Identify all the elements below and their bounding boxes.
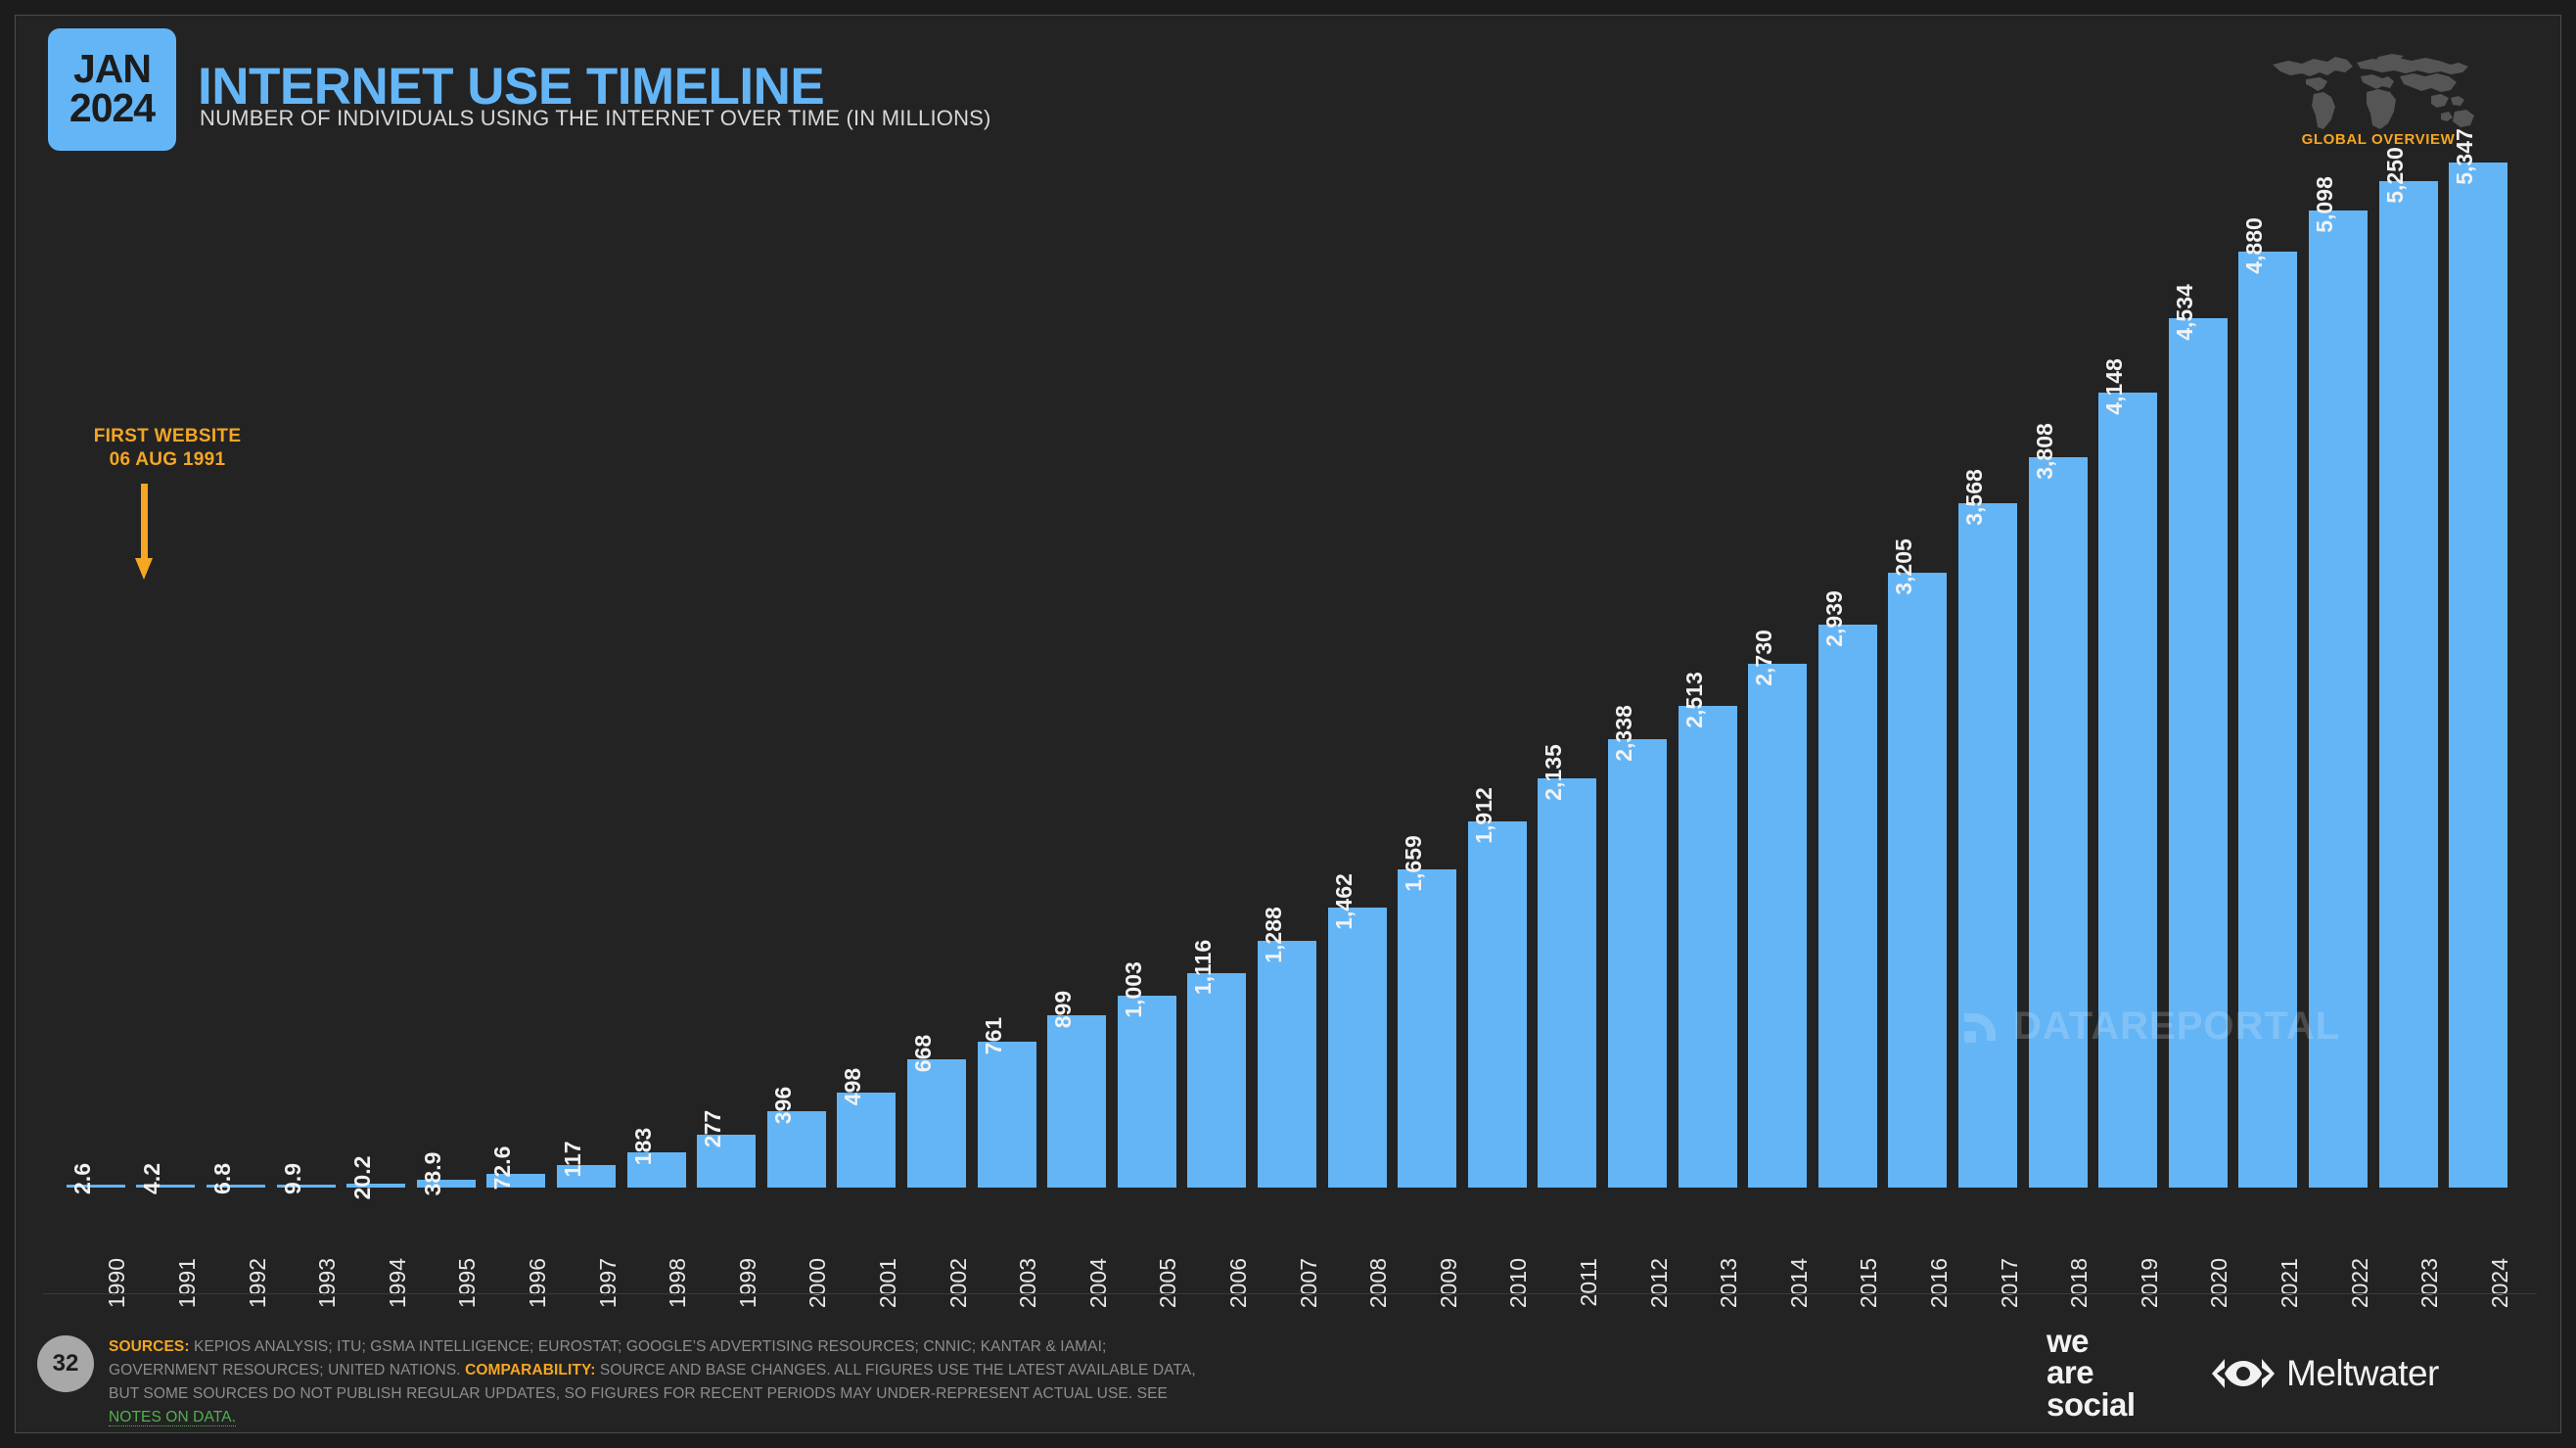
bar-slot: 38.9 xyxy=(411,163,482,1188)
x-tick-2005: 2005 xyxy=(1155,1258,1181,1308)
bar-value-label: 72.6 xyxy=(489,1145,516,1190)
notes-on-data-link[interactable]: NOTES ON DATA. xyxy=(109,1409,236,1426)
x-tick-1997: 1997 xyxy=(595,1258,621,1308)
bar-slot: 4.2 xyxy=(131,163,202,1188)
bar-2002[interactable] xyxy=(907,1059,966,1188)
x-tick-2023: 2023 xyxy=(2416,1258,2443,1308)
x-tick-2018: 2018 xyxy=(2066,1258,2093,1308)
x-tick-2022: 2022 xyxy=(2347,1258,2373,1308)
bar-value-label: 2.6 xyxy=(69,1163,96,1194)
footer-divider xyxy=(43,1293,2537,1294)
bar-value-label: 4,148 xyxy=(2101,358,2128,415)
bar-2013[interactable] xyxy=(1679,706,1737,1188)
bar-value-label: 5,347 xyxy=(2452,128,2478,185)
bar-2007[interactable] xyxy=(1258,941,1316,1188)
bar-2020[interactable] xyxy=(2169,318,2228,1188)
x-tick-2015: 2015 xyxy=(1856,1258,1882,1308)
bar-value-label: 5,098 xyxy=(2312,176,2338,233)
bar-value-label: 761 xyxy=(981,1017,1007,1054)
bar-value-label: 498 xyxy=(840,1067,866,1104)
bar-slot: 72.6 xyxy=(482,163,552,1188)
x-tick-1993: 1993 xyxy=(314,1258,341,1308)
bar-value-label: 2,939 xyxy=(1821,590,1848,647)
bar-value-label: 38.9 xyxy=(420,1152,446,1196)
bar-2015[interactable] xyxy=(1818,625,1877,1188)
bar-value-label: 2,513 xyxy=(1681,672,1708,728)
we-are-social-line-2: are xyxy=(2047,1357,2136,1388)
x-tick-1994: 1994 xyxy=(385,1258,411,1308)
x-tick-2016: 2016 xyxy=(1926,1258,1953,1308)
bar-value-label: 2,338 xyxy=(1611,705,1637,762)
bar-2024[interactable] xyxy=(2449,163,2507,1188)
bar-slot: 5,098 xyxy=(2303,163,2373,1188)
x-tick-2009: 2009 xyxy=(1436,1258,1462,1308)
x-tick-2002: 2002 xyxy=(945,1258,972,1308)
bar-2006[interactable] xyxy=(1187,973,1246,1188)
bar-2021[interactable] xyxy=(2238,252,2297,1188)
sources-label: SOURCES: xyxy=(109,1338,190,1355)
bar-2012[interactable] xyxy=(1608,739,1667,1188)
bar-value-label: 6.8 xyxy=(209,1163,236,1194)
bar-2009[interactable] xyxy=(1398,869,1456,1188)
bar-slot: 1,003 xyxy=(1112,163,1182,1188)
world-map-icon xyxy=(2263,43,2498,134)
x-tick-2007: 2007 xyxy=(1296,1258,1322,1308)
bar-2011[interactable] xyxy=(1538,778,1596,1188)
bar-slot: 396 xyxy=(761,163,832,1188)
we-are-social-line-1: we xyxy=(2047,1326,2136,1357)
x-tick-2024: 2024 xyxy=(2487,1258,2513,1308)
page-number-badge: 32 xyxy=(37,1335,94,1392)
bar-value-label: 396 xyxy=(770,1087,797,1124)
x-tick-2006: 2006 xyxy=(1225,1258,1252,1308)
bar-value-label: 5,250 xyxy=(2382,147,2409,204)
bar-slot: 1,462 xyxy=(1322,163,1393,1188)
x-tick-1992: 1992 xyxy=(245,1258,271,1308)
bar-value-label: 2,730 xyxy=(1751,631,1777,687)
bar-value-label: 3,205 xyxy=(1891,539,1917,596)
x-tick-2003: 2003 xyxy=(1015,1258,1041,1308)
bar-slot: 1,288 xyxy=(1252,163,1322,1188)
slide: JAN 2024 INTERNET USE TIMELINE NUMBER OF… xyxy=(15,15,2561,1433)
x-tick-2013: 2013 xyxy=(1716,1258,1742,1308)
bar-2014[interactable] xyxy=(1748,664,1807,1188)
bar-value-label: 4.2 xyxy=(139,1163,165,1194)
annotation-line-1: FIRST WEBSITE xyxy=(69,425,265,448)
we-are-social-logo: we are social xyxy=(2047,1326,2136,1421)
bar-slot: 2,513 xyxy=(1673,163,1743,1188)
meltwater-eye-icon xyxy=(2211,1357,2276,1390)
bar-value-label: 668 xyxy=(910,1035,937,1072)
meltwater-wordmark: Meltwater xyxy=(2286,1355,2439,1391)
bar-slot: 4,880 xyxy=(2233,163,2304,1188)
x-tick-2008: 2008 xyxy=(1365,1258,1392,1308)
bar-slot: 2,135 xyxy=(1533,163,1603,1188)
bar-value-label: 899 xyxy=(1050,991,1077,1028)
date-badge: JAN 2024 xyxy=(48,28,176,151)
x-tick-2004: 2004 xyxy=(1085,1258,1112,1308)
annotation-line-2: 06 AUG 1991 xyxy=(69,448,265,472)
page-subtitle: NUMBER OF INDIVIDUALS USING THE INTERNET… xyxy=(200,106,991,131)
bar-slot: 277 xyxy=(691,163,761,1188)
sources-note: SOURCES: KEPIOS ANALYSIS; ITU; GSMA INTE… xyxy=(109,1335,1215,1429)
bar-value-label: 4,534 xyxy=(2172,284,2198,341)
bar-value-label: 2,135 xyxy=(1541,744,1567,801)
bar-slot: 20.2 xyxy=(341,163,411,1188)
x-tick-2011: 2011 xyxy=(1576,1258,1602,1306)
bar-slot: 183 xyxy=(621,163,692,1188)
x-tick-2021: 2021 xyxy=(2277,1258,2303,1308)
bar-value-label: 183 xyxy=(630,1128,657,1165)
bar-slot: 3,205 xyxy=(1883,163,1954,1188)
bar-chart: 2.64.26.89.920.238.972.61171832773964986… xyxy=(61,163,2513,1259)
bar-2008[interactable] xyxy=(1328,908,1387,1188)
bar-slot: 2,939 xyxy=(1813,163,1883,1188)
bar-value-label: 1,659 xyxy=(1401,835,1427,892)
bar-value-label: 277 xyxy=(700,1110,726,1147)
bar-value-label: 117 xyxy=(560,1142,586,1178)
bar-slot: 761 xyxy=(972,163,1042,1188)
bar-2001[interactable] xyxy=(837,1093,896,1189)
comparability-label: COMPARABILITY: xyxy=(465,1362,595,1378)
chart-x-axis: 1990199119921993199419951996199719981999… xyxy=(61,1193,2513,1262)
x-tick-2012: 2012 xyxy=(1646,1258,1673,1308)
bar-2010[interactable] xyxy=(1468,821,1527,1188)
bar-2005[interactable] xyxy=(1118,996,1176,1188)
bar-2023[interactable] xyxy=(2379,181,2438,1188)
bar-value-label: 4,880 xyxy=(2241,218,2268,275)
bar-slot: 899 xyxy=(1041,163,1112,1188)
bar-value-label: 1,003 xyxy=(1121,961,1147,1018)
down-arrow-icon xyxy=(135,484,153,582)
bar-2003[interactable] xyxy=(978,1042,1036,1188)
bar-slot: 5,347 xyxy=(2443,163,2513,1188)
x-tick-1995: 1995 xyxy=(454,1258,481,1308)
bar-slot: 2.6 xyxy=(61,163,131,1188)
x-tick-2014: 2014 xyxy=(1786,1258,1813,1308)
x-tick-1998: 1998 xyxy=(665,1258,691,1308)
bar-slot: 4,534 xyxy=(2163,163,2233,1188)
date-badge-year: 2024 xyxy=(69,87,155,129)
bar-slot: 3,808 xyxy=(2023,163,2093,1188)
bar-2017[interactable] xyxy=(1958,503,2017,1188)
bar-2004[interactable] xyxy=(1047,1015,1106,1188)
bar-value-label: 1,116 xyxy=(1190,940,1217,995)
x-tick-1991: 1991 xyxy=(174,1258,201,1308)
x-tick-2020: 2020 xyxy=(2206,1258,2232,1308)
bar-2022[interactable] xyxy=(2309,210,2368,1188)
x-tick-2019: 2019 xyxy=(2137,1258,2163,1308)
bar-slot: 117 xyxy=(551,163,621,1188)
bar-value-label: 9.9 xyxy=(280,1163,306,1194)
bar-2018[interactable] xyxy=(2029,457,2088,1188)
bar-slot: 4,148 xyxy=(2093,163,2163,1188)
chart-plot-area: 2.64.26.89.920.238.972.61171832773964986… xyxy=(61,163,2513,1188)
x-tick-2017: 2017 xyxy=(1997,1258,2023,1308)
x-tick-1999: 1999 xyxy=(735,1258,761,1308)
bar-slot: 9.9 xyxy=(271,163,342,1188)
bar-slot: 2,338 xyxy=(1602,163,1673,1188)
x-tick-2000: 2000 xyxy=(805,1258,831,1308)
bar-value-label: 1,288 xyxy=(1261,907,1287,963)
x-tick-2001: 2001 xyxy=(875,1258,901,1308)
we-are-social-line-3: social xyxy=(2047,1389,2136,1421)
bar-value-label: 1,912 xyxy=(1471,787,1497,844)
bar-2019[interactable] xyxy=(2098,393,2157,1188)
bar-value-label: 3,808 xyxy=(2032,424,2058,481)
bar-slot: 1,116 xyxy=(1182,163,1253,1188)
bar-2016[interactable] xyxy=(1888,573,1947,1188)
bar-slot: 1,912 xyxy=(1462,163,1533,1188)
date-badge-month: JAN xyxy=(73,50,151,88)
bar-value-label: 3,568 xyxy=(1961,470,1988,527)
bar-slot: 5,250 xyxy=(2373,163,2444,1188)
bar-slot: 668 xyxy=(901,163,972,1188)
annotation-first-website: FIRST WEBSITE 06 AUG 1991 xyxy=(69,425,265,472)
x-tick-2010: 2010 xyxy=(1505,1258,1532,1308)
bar-slot: 498 xyxy=(832,163,902,1188)
bar-slot: 3,568 xyxy=(1953,163,2023,1188)
bar-slot: 2,730 xyxy=(1742,163,1813,1188)
meltwater-logo: Meltwater xyxy=(2211,1355,2439,1391)
x-tick-1990: 1990 xyxy=(104,1258,130,1308)
bar-slot: 1,659 xyxy=(1392,163,1462,1188)
bar-slot: 6.8 xyxy=(201,163,271,1188)
bar-value-label: 1,462 xyxy=(1331,873,1357,930)
x-tick-1996: 1996 xyxy=(525,1258,551,1308)
